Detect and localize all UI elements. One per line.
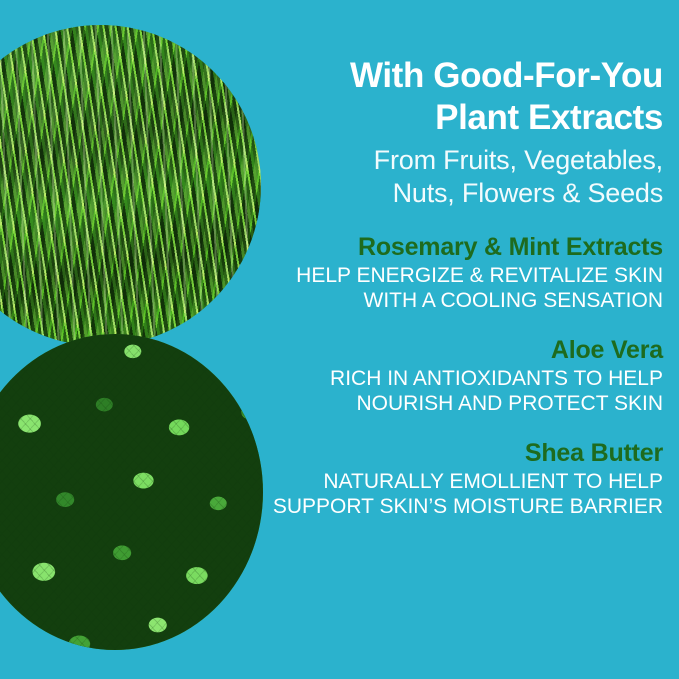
rosemary-photo	[0, 25, 261, 346]
benefit-body-line-1: RICH IN ANTIOXIDANTS TO HELP	[255, 366, 663, 391]
subheadline: From Fruits, Vegetables, Nuts, Flowers &…	[255, 144, 663, 210]
headline-line-2: Plant Extracts	[255, 97, 663, 139]
benefit-body-line-1: HELP ENERGIZE & REVITALIZE SKIN	[255, 263, 663, 288]
text-column: With Good-For-You Plant Extracts From Fr…	[255, 0, 663, 519]
benefit-body-line-1: NATURALLY EMOLLIENT TO HELP	[255, 469, 663, 494]
benefit-body-line-2: NOURISH AND PROTECT SKIN	[255, 391, 663, 416]
headline: With Good-For-You Plant Extracts	[255, 55, 663, 139]
subheadline-line-1: From Fruits, Vegetables,	[255, 144, 663, 177]
product-benefits-infographic: With Good-For-You Plant Extracts From Fr…	[0, 0, 679, 679]
benefit-shea-butter: Shea Butter NATURALLY EMOLLIENT TO HELP …	[255, 438, 663, 519]
benefit-title: Aloe Vera	[255, 335, 663, 365]
rosemary-highlight-texture	[0, 25, 261, 346]
benefit-aloe-vera: Aloe Vera RICH IN ANTIOXIDANTS TO HELP N…	[255, 335, 663, 416]
benefit-body-line-2: WITH A COOLING SENSATION	[255, 288, 663, 313]
headline-line-1: With Good-For-You	[255, 55, 663, 97]
benefit-title: Shea Butter	[255, 438, 663, 468]
subheadline-line-2: Nuts, Flowers & Seeds	[255, 177, 663, 210]
benefit-title: Rosemary & Mint Extracts	[255, 232, 663, 262]
benefit-body: RICH IN ANTIOXIDANTS TO HELP NOURISH AND…	[255, 366, 663, 416]
benefit-body: HELP ENERGIZE & REVITALIZE SKIN WITH A C…	[255, 263, 663, 313]
benefit-body-line-2: SUPPORT SKIN’S MOISTURE BARRIER	[255, 494, 663, 519]
mint-photo	[0, 334, 263, 650]
benefit-body: NATURALLY EMOLLIENT TO HELP SUPPORT SKIN…	[255, 469, 663, 519]
benefit-rosemary-mint: Rosemary & Mint Extracts HELP ENERGIZE &…	[255, 232, 663, 313]
mint-vein-texture	[0, 334, 263, 650]
